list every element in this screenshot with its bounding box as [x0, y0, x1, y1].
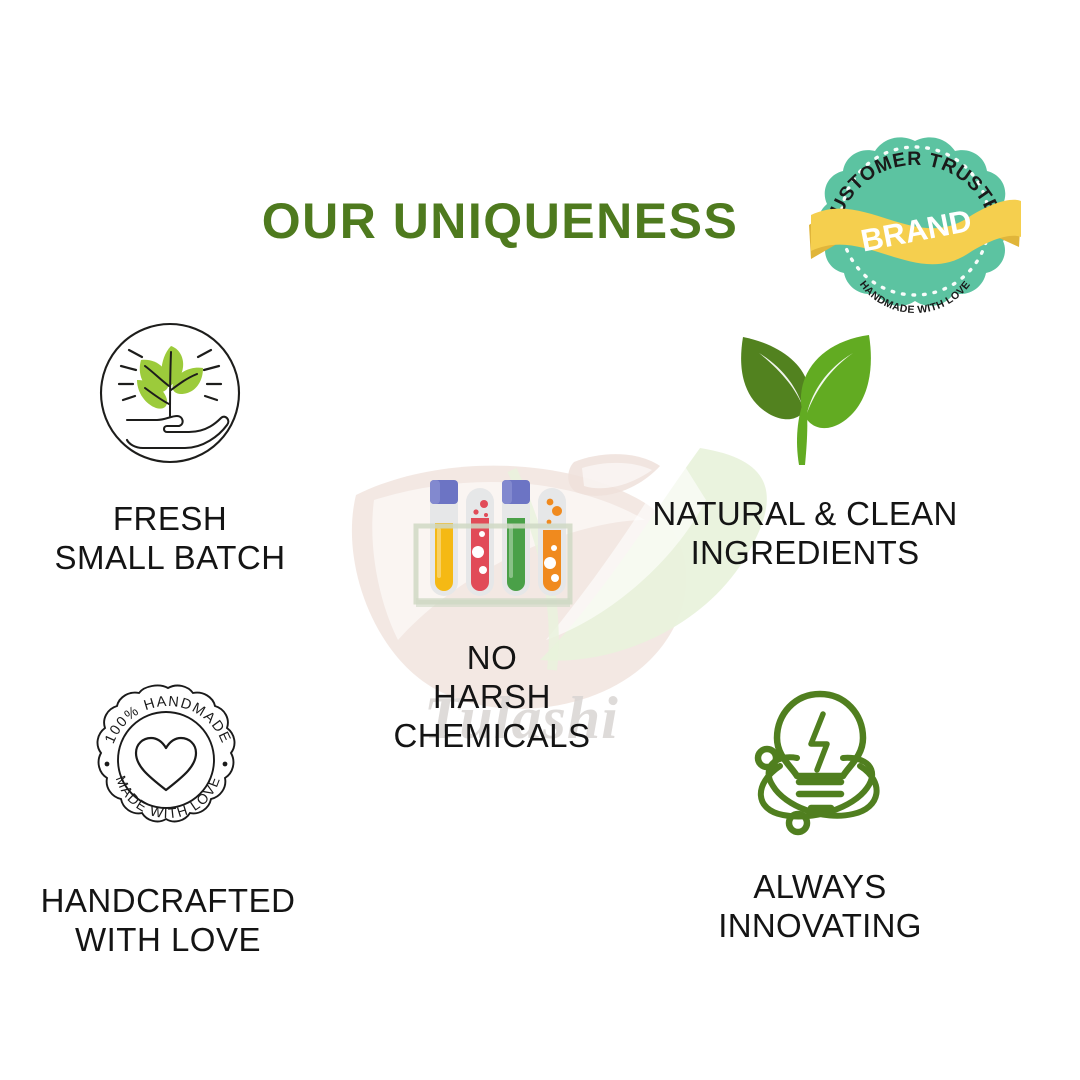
- feature-caption: HANDCRAFTED WITH LOVE: [18, 882, 318, 960]
- poster-canvas: Tulashi OUR UNIQUENESS CUSTOMER TRUSTED …: [0, 0, 1080, 1080]
- feature-fresh-small-batch: FRESH SMALL BATCH: [24, 308, 316, 578]
- feature-caption: FRESH SMALL BATCH: [24, 500, 316, 578]
- feature-no-harsh-chemicals: NO HARSH CHEMICALS: [372, 460, 612, 756]
- feature-always-innovating: ALWAYS INNOVATING: [655, 684, 985, 946]
- test-tube-rack-icon: [400, 460, 585, 625]
- handmade-stamp-icon: 100% HANDMADE MADE WITH LOVE: [78, 672, 258, 852]
- hand-holding-plant-icon: [85, 308, 255, 478]
- feature-handcrafted-with-love: 100% HANDMADE MADE WITH LOVE HANDCRAFTED…: [18, 672, 318, 960]
- heart-icon: [136, 738, 196, 790]
- feature-natural-clean-ingredients: NATURAL & CLEAN INGREDIENTS: [640, 325, 970, 573]
- lightbulb-atom-icon: [735, 684, 905, 844]
- feature-caption: ALWAYS INNOVATING: [655, 868, 985, 946]
- feature-caption: NATURAL & CLEAN INGREDIENTS: [640, 495, 970, 573]
- two-leaves-icon: [715, 325, 895, 475]
- customer-trusted-brand-badge: CUSTOMER TRUSTED HANDMADE WITH LOVE BRAN…: [805, 125, 1025, 330]
- stamp-bottom-arc-text: MADE WITH LOVE: [113, 773, 224, 821]
- feature-caption: NO HARSH CHEMICALS: [372, 639, 612, 756]
